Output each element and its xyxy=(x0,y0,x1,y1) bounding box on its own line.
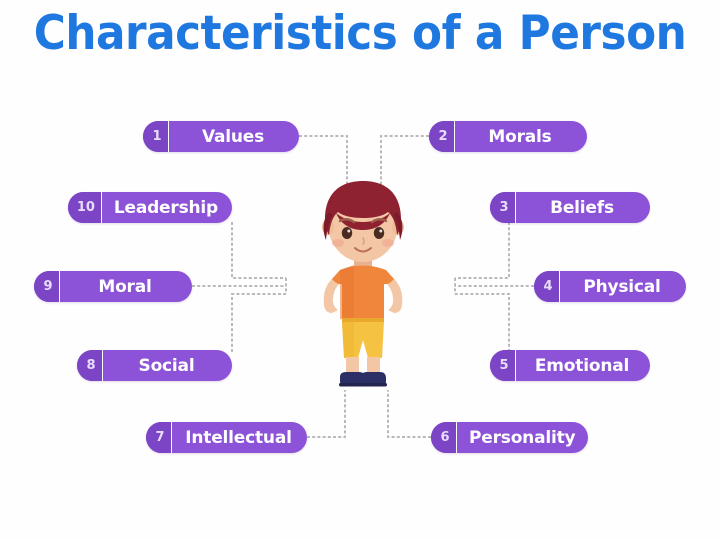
node-number-9: 9 xyxy=(34,271,60,302)
node-number-7: 7 xyxy=(146,422,172,453)
node-number-5: 5 xyxy=(490,350,516,381)
cheek-left xyxy=(332,239,344,247)
node-label-physical: Physical xyxy=(560,271,686,302)
node-label-emotional: Emotional xyxy=(516,350,650,381)
shorts-shade xyxy=(342,322,354,358)
node-label-morals: Morals xyxy=(455,121,587,152)
connector-10 xyxy=(232,222,286,278)
node-number-1: 1 xyxy=(143,121,169,152)
node-label-values: Values xyxy=(169,121,299,152)
connector-8 xyxy=(232,294,286,352)
node-label-intellectual: Intellectual xyxy=(172,422,307,453)
node-label-social: Social xyxy=(103,350,232,381)
node-number-3: 3 xyxy=(490,192,516,223)
node-label-moral: Moral xyxy=(60,271,192,302)
node-number-10: 10 xyxy=(68,192,102,223)
connector-5 xyxy=(455,294,509,352)
eye-highlight-right xyxy=(379,230,382,233)
connector-7 xyxy=(307,390,345,437)
node-morals[interactable]: 2 Morals xyxy=(429,121,587,152)
node-leadership[interactable]: 10 Leadership xyxy=(68,192,232,223)
node-physical[interactable]: 4 Physical xyxy=(534,271,686,302)
node-label-beliefs: Beliefs xyxy=(516,192,650,223)
node-emotional[interactable]: 5 Emotional xyxy=(490,350,650,381)
infographic-canvas: Characteristics of a Person 1 Values 2 M xyxy=(0,0,720,539)
node-personality[interactable]: 6 Personality xyxy=(431,422,588,453)
node-intellectual[interactable]: 7 Intellectual xyxy=(146,422,307,453)
node-values[interactable]: 1 Values xyxy=(143,121,299,152)
node-number-8: 8 xyxy=(77,350,103,381)
shoe-sole-right xyxy=(360,383,387,387)
node-number-4: 4 xyxy=(534,271,560,302)
node-moral[interactable]: 9 Moral xyxy=(34,271,192,302)
connector-3 xyxy=(455,222,509,278)
character-illustration xyxy=(300,172,426,394)
node-beliefs[interactable]: 3 Beliefs xyxy=(490,192,650,223)
nose xyxy=(363,238,364,244)
eye-right xyxy=(374,227,384,239)
cheek-right xyxy=(382,239,394,247)
node-label-leadership: Leadership xyxy=(102,192,232,223)
shirt-shade xyxy=(340,265,354,321)
node-social[interactable]: 8 Social xyxy=(77,350,232,381)
node-number-6: 6 xyxy=(431,422,457,453)
connector-6 xyxy=(388,390,431,437)
node-label-personality: Personality xyxy=(457,422,588,453)
eye-highlight-left xyxy=(347,230,350,233)
node-number-2: 2 xyxy=(429,121,455,152)
eye-left xyxy=(342,227,352,239)
